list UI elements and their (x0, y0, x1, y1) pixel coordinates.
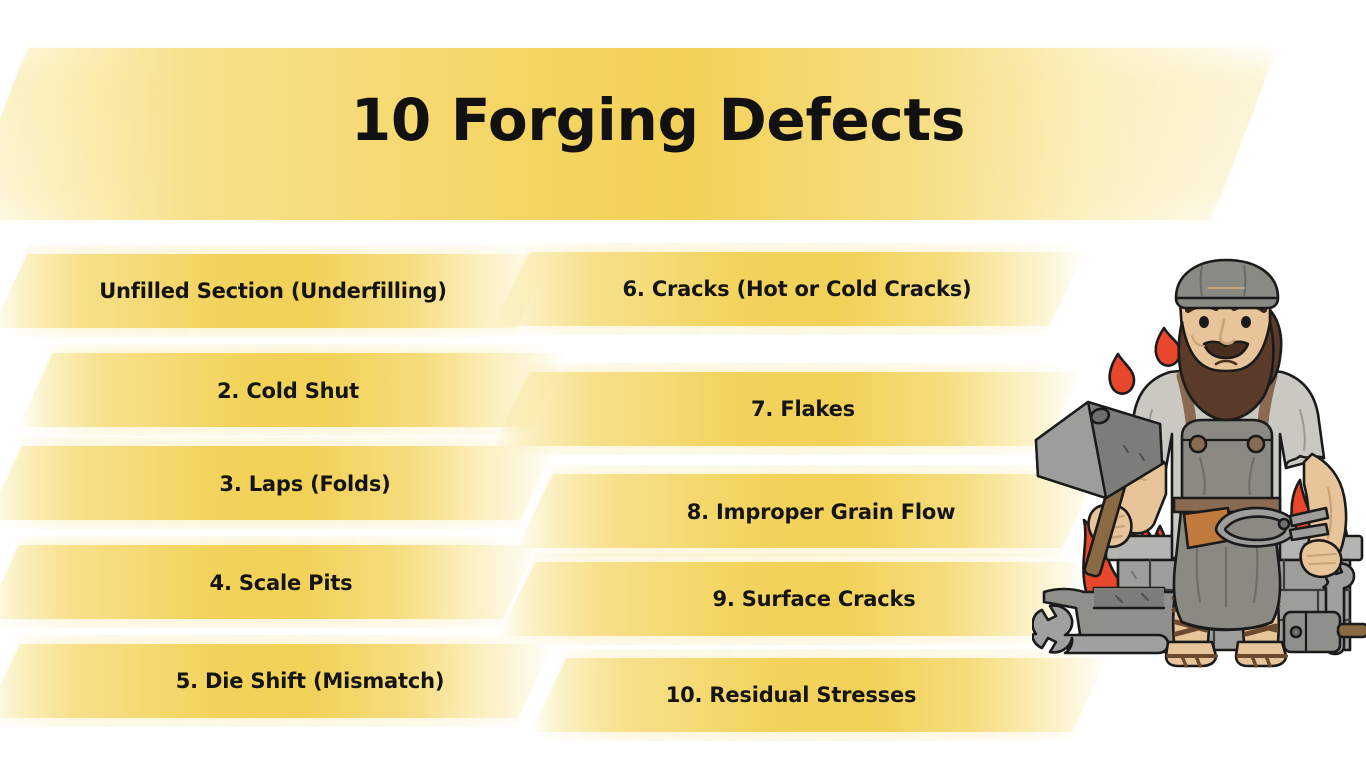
slide-canvas: 10 Forging Defects Unfilled Section (Und… (0, 0, 1366, 768)
defect-label-right-5: 10. Residual Stresses (520, 683, 1062, 707)
head (1176, 260, 1281, 420)
defect-label-left-2: 2. Cold Shut (14, 379, 562, 403)
defect-label-left-1: Unfilled Section (Underfilling) (0, 279, 546, 303)
defect-label-right-4: 9. Surface Cracks (516, 587, 1112, 611)
page-title: 10 Forging Defects (0, 86, 1316, 154)
blacksmith-illustration (1032, 258, 1366, 670)
defect-label-right-2: 7. Flakes (508, 397, 1098, 421)
defect-label-right-1: 6. Cracks (Hot or Cold Cracks) (500, 277, 1094, 301)
defect-label-right-3: 8. Improper Grain Flow (522, 500, 1120, 524)
defect-label-left-3: 3. Laps (Folds) (22, 472, 588, 496)
defect-label-left-4: 4. Scale Pits (8, 571, 554, 595)
